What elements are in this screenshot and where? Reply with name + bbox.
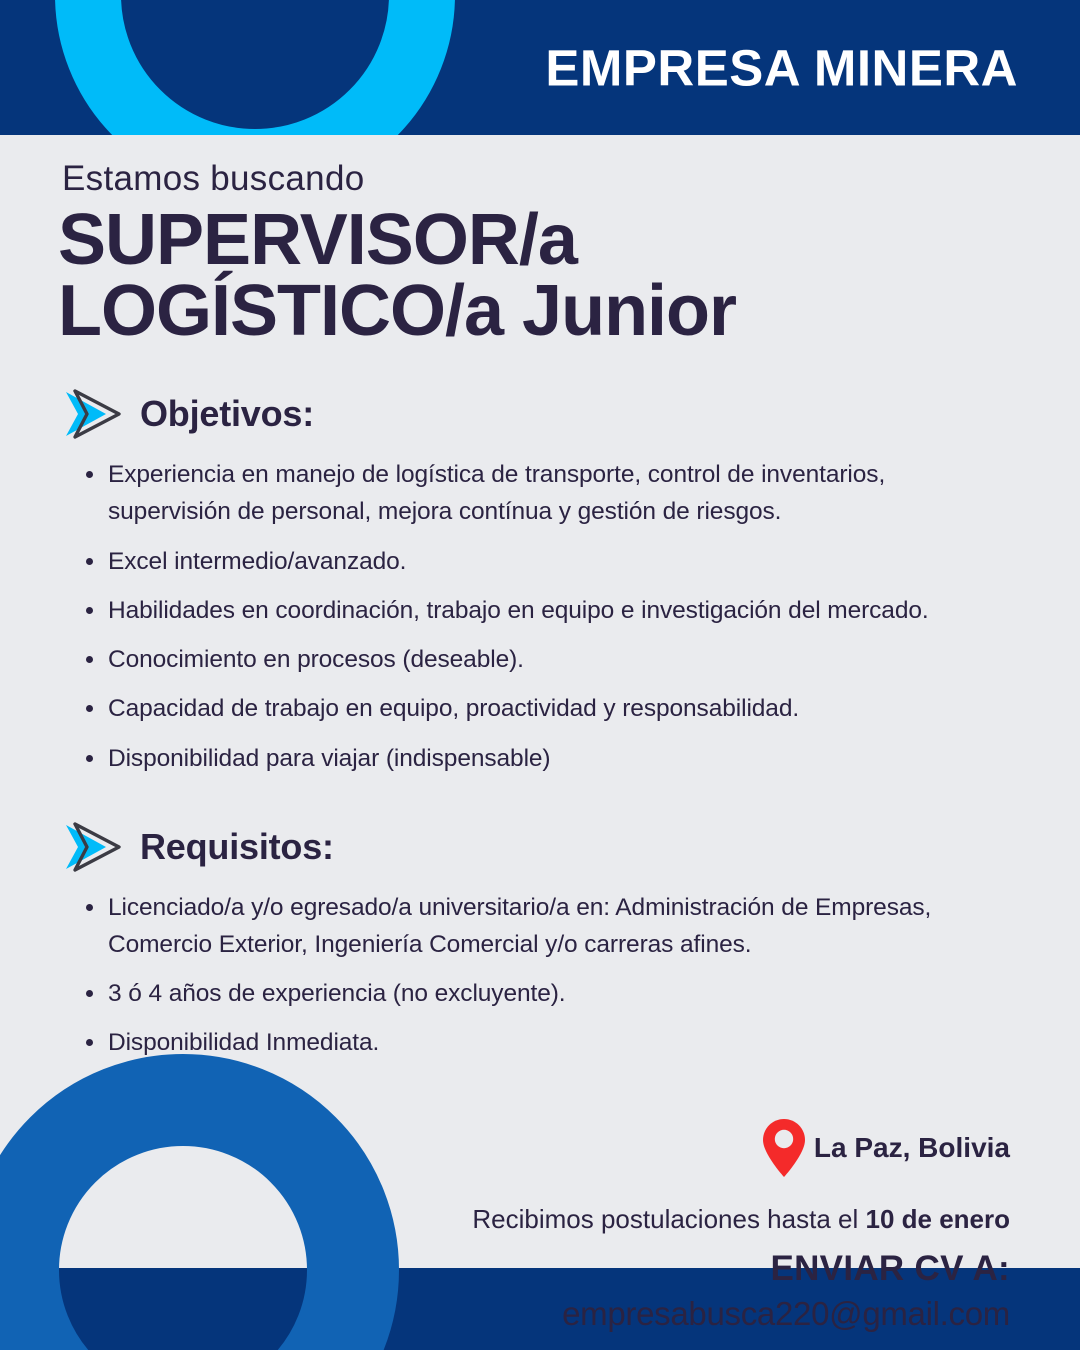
location-pin-icon xyxy=(762,1118,806,1178)
section-header-objetivos: Objetivos: xyxy=(62,388,1080,440)
poster-header: EMPRESA MINERA xyxy=(0,0,1080,135)
section-title-objetivos: Objetivos: xyxy=(140,393,314,435)
page-title: SUPERVISOR/a LOGÍSTICO/a Junior xyxy=(58,205,1080,346)
list-item: 3 ó 4 años de experiencia (no excluyente… xyxy=(0,975,1080,1012)
company-name: EMPRESA MINERA xyxy=(545,38,1018,97)
cyan-ring-decoration-icon xyxy=(55,0,455,135)
requisitos-list: Licenciado/a y/o egresado/a universitari… xyxy=(0,889,1080,1062)
arrow-right-icon xyxy=(62,388,124,440)
list-item: Disponibilidad Inmediata. xyxy=(0,1024,1080,1061)
job-title-line-1: SUPERVISOR/a xyxy=(58,205,1080,276)
list-item: Capacidad de trabajo en equipo, proactiv… xyxy=(0,690,1080,727)
job-title-line-2: LOGÍSTICO/a Junior xyxy=(58,276,1080,347)
list-item: Disponibilidad para viajar (indispensabl… xyxy=(0,740,1080,777)
list-item: Habilidades en coordinación, trabajo en … xyxy=(0,592,1080,629)
contact-block: La Paz, Bolivia Recibimos postulaciones … xyxy=(0,1118,1080,1333)
section-header-requisitos: Requisitos: xyxy=(62,821,1080,873)
list-item: Experiencia en manejo de logística de tr… xyxy=(0,456,1080,530)
poster-content: Estamos buscando SUPERVISOR/a LOGÍSTICO/… xyxy=(0,135,1080,1333)
location-row: La Paz, Bolivia xyxy=(0,1118,1010,1178)
list-item: Licenciado/a y/o egresado/a universitari… xyxy=(0,889,1080,963)
list-item: Excel intermedio/avanzado. xyxy=(0,543,1080,580)
deadline-prefix: Recibimos postulaciones hasta el xyxy=(472,1204,865,1234)
objetivos-list: Experiencia en manejo de logística de tr… xyxy=(0,456,1080,777)
email-address[interactable]: empresabusca220@gmail.com xyxy=(0,1295,1010,1333)
arrow-right-icon xyxy=(62,821,124,873)
eyebrow-text: Estamos buscando xyxy=(62,159,1080,199)
deadline-date: 10 de enero xyxy=(865,1204,1010,1234)
send-cv-label: ENVIAR CV A: xyxy=(0,1249,1010,1289)
list-item: Conocimiento en procesos (deseable). xyxy=(0,641,1080,678)
section-title-requisitos: Requisitos: xyxy=(140,826,334,868)
location-text: La Paz, Bolivia xyxy=(814,1132,1010,1164)
deadline-text: Recibimos postulaciones hasta el 10 de e… xyxy=(0,1204,1010,1235)
job-posting-poster: EMPRESA MINERA Estamos buscando SUPERVIS… xyxy=(0,0,1080,1350)
